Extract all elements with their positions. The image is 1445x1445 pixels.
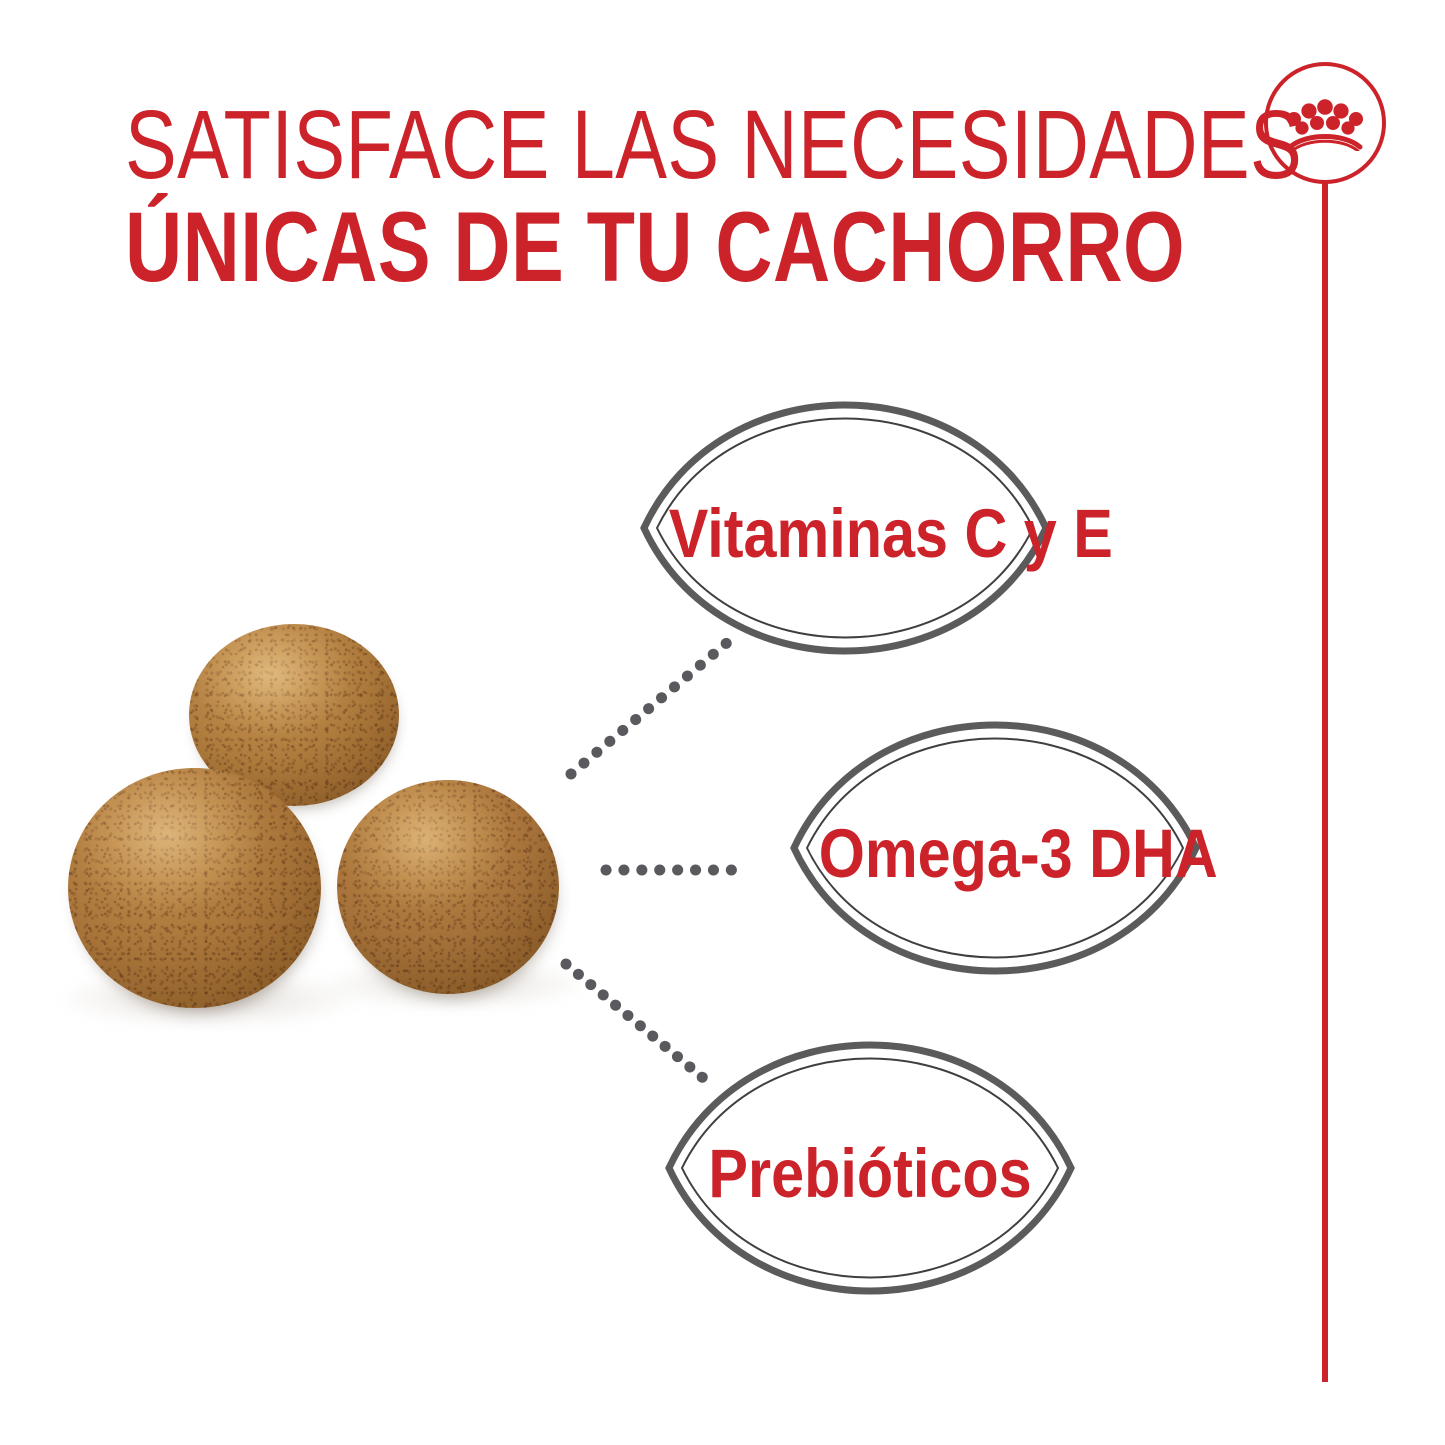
- kibble-piece: [337, 780, 559, 994]
- benefit-prebiotics: Prebióticos: [665, 1038, 1075, 1298]
- benefit-label: Omega-3 DHA: [819, 814, 1172, 893]
- benefit-vitamins: Vitaminas C y E: [640, 398, 1050, 658]
- kibble-piece: [68, 768, 321, 1008]
- promo-canvas: SATISFACE LAS NECESIDADES ÚNICAS DE TU C…: [0, 0, 1445, 1445]
- logo-vertical-line: [1322, 180, 1328, 1382]
- product-kibble-image: [60, 620, 580, 1050]
- kibble-highlight: [337, 780, 559, 994]
- connector-to-omega: [600, 862, 755, 878]
- benefit-label: Vitaminas C y E: [669, 494, 1022, 573]
- brand-logo: [1264, 62, 1386, 184]
- headline-line-2: ÚNICAS DE TU CACHORRO: [125, 197, 1125, 296]
- page-title: SATISFACE LAS NECESIDADES ÚNICAS DE TU C…: [0, 96, 1250, 296]
- benefit-omega: Omega-3 DHA: [790, 718, 1200, 978]
- headline-line-1: SATISFACE LAS NECESIDADES: [125, 96, 1125, 193]
- royal-canin-crown-icon: [1286, 95, 1364, 151]
- benefit-label: Prebióticos: [694, 1134, 1047, 1213]
- kibble-highlight: [68, 768, 321, 1008]
